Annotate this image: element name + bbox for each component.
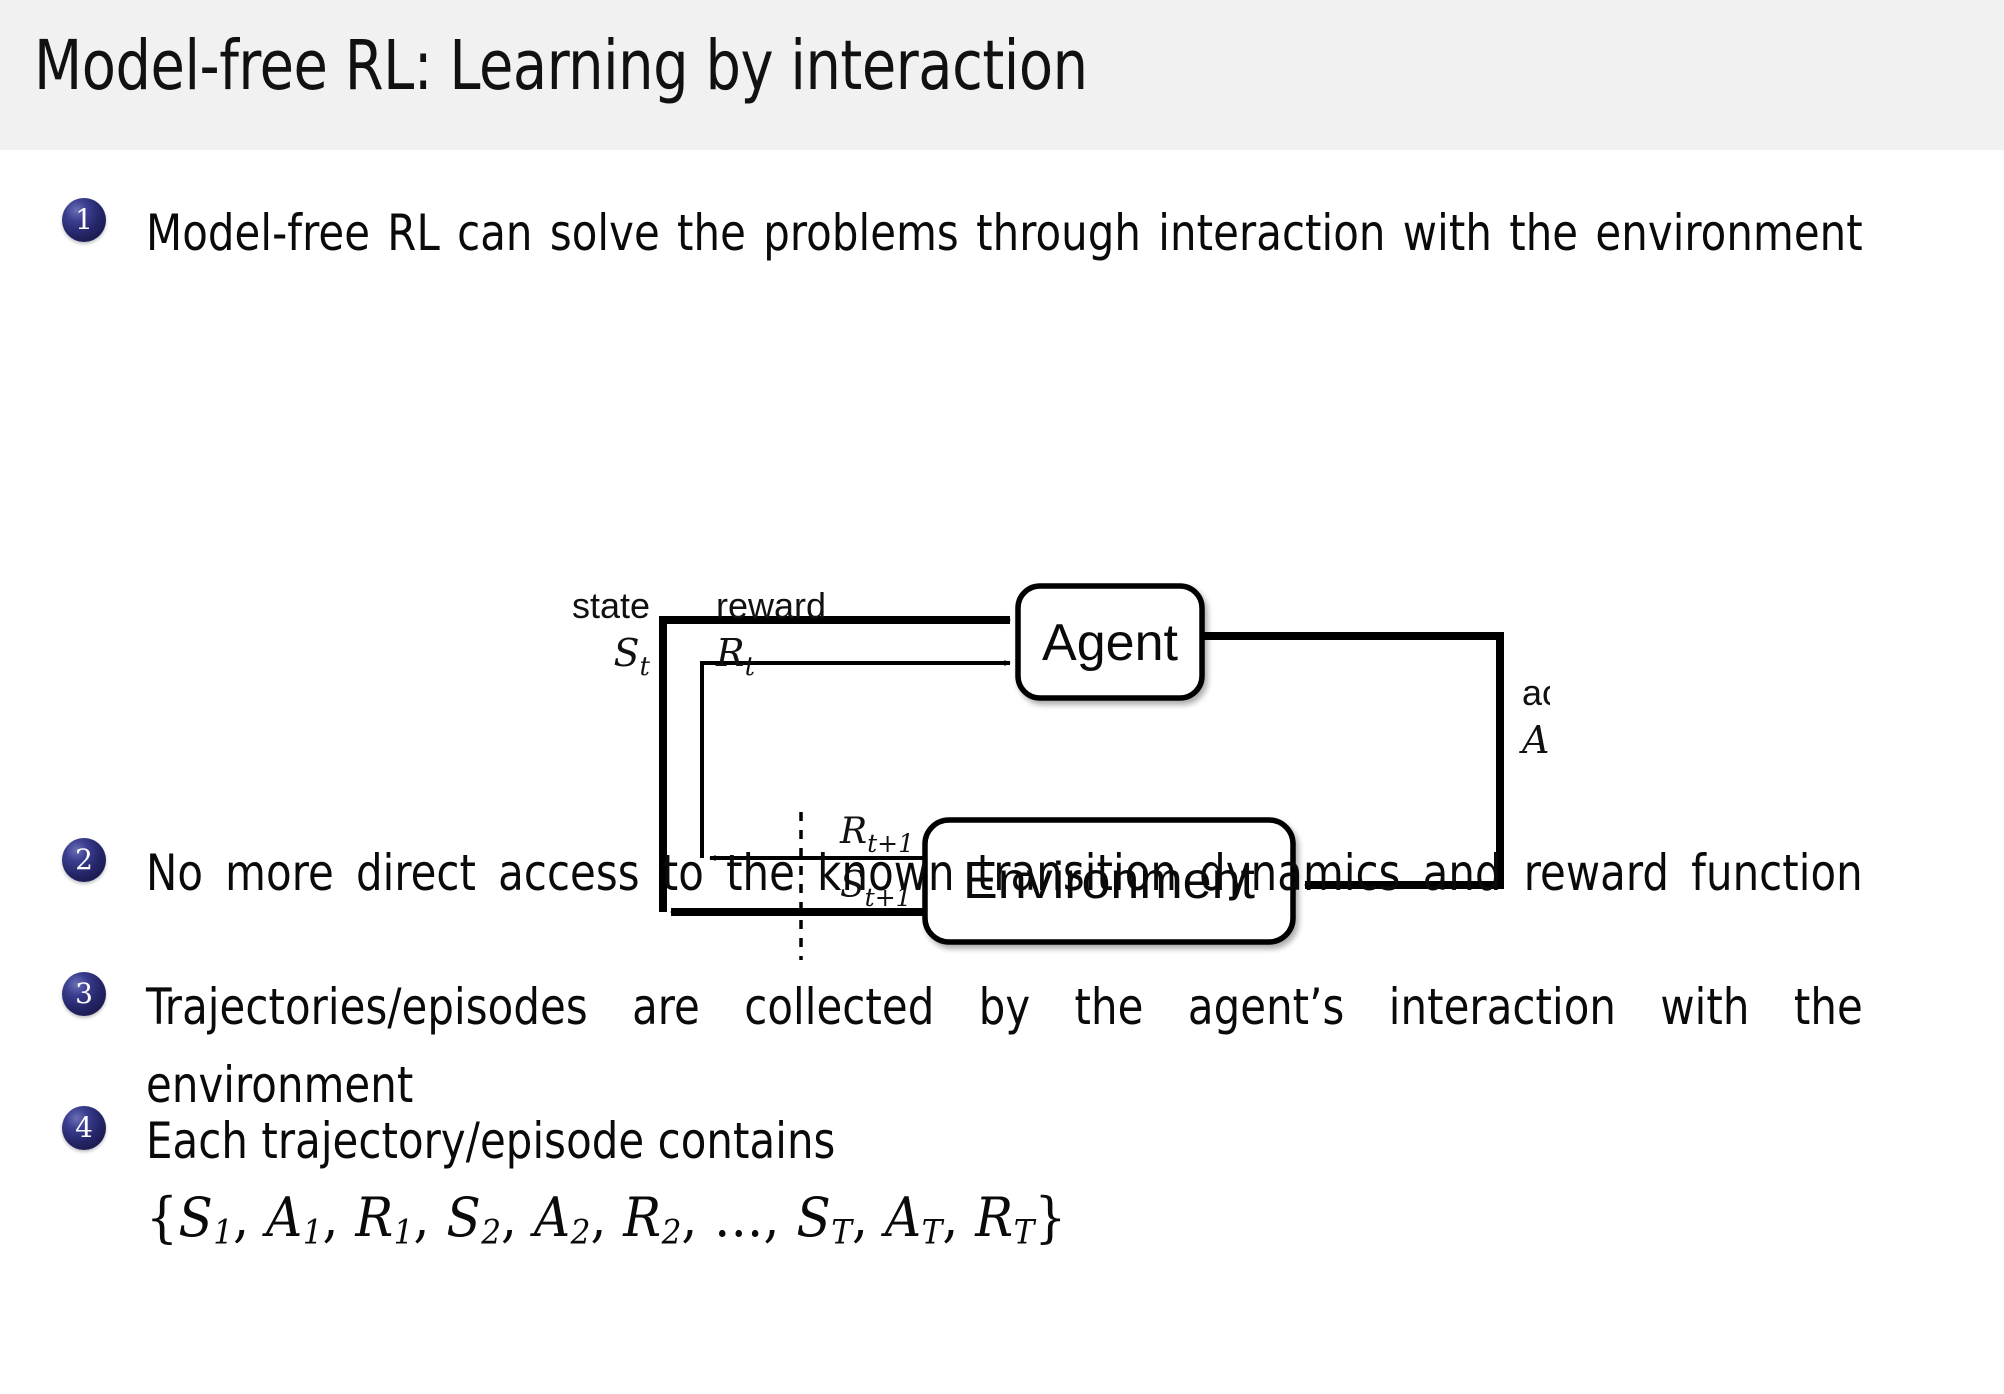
slide-root: Model-free RL: Learning by interaction 1… (0, 0, 2004, 1394)
page-title: Model-free RL: Learning by interaction (34, 26, 1088, 106)
state-label: state (572, 585, 650, 626)
reward-symbol: Rt (715, 631, 756, 682)
enumerate-marker-1: 1 (62, 198, 106, 242)
enumerate-marker-4: 4 (62, 1106, 106, 1150)
enumerate-marker-3: 3 (62, 972, 106, 1016)
slide-header-bar: Model-free RL: Learning by interaction (0, 0, 2004, 150)
list-item-text-4: Each trajectory/episode contains {S1, A1… (146, 1102, 1863, 1270)
list-item-text-2: No more direct access to the known trans… (146, 834, 1863, 990)
action-symbol: At (1519, 718, 1550, 769)
slide-body: 1 Model-free RL can solve the problems t… (0, 150, 2004, 1394)
enumerate-marker-2: 2 (62, 838, 106, 882)
trajectory-formula: {S1, A1, R1, S2, A2, R2, ..., ST, AT, RT… (146, 1180, 1863, 1270)
reward-label: reward (716, 585, 826, 626)
list-item-text-1: Model-free RL can solve the problems thr… (146, 194, 1863, 350)
agent-box: Agent (1018, 586, 1202, 698)
action-label: action (1522, 672, 1550, 713)
agent-box-label: Agent (1042, 614, 1178, 672)
list-item-4-lead: Each trajectory/episode contains (146, 1112, 835, 1170)
state-symbol: St (614, 631, 651, 682)
